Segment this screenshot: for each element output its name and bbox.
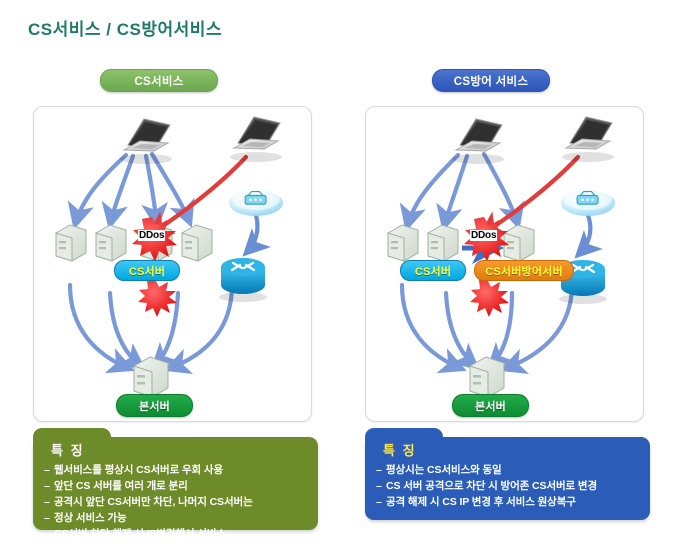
block-burst-icon [138, 279, 177, 317]
attack-flow-arrows [75, 154, 190, 225]
cloud-to-router-arrow [246, 215, 258, 253]
feature-item-continuation: 정상 서비스 가능 [44, 511, 310, 526]
main-server-icon [470, 357, 504, 397]
block-burst-icon [470, 279, 509, 317]
attack-flow-arrows [407, 154, 518, 227]
feature-tab-label: 특 징 [383, 440, 417, 459]
ddos-label: DDos [138, 230, 165, 241]
feature-list-cs-service: 웹서비스를 평상시 CS서버로 우회 사용 앞단 CS 서버를 여러 개로 분리… [44, 463, 310, 543]
main-server-label: 본서버 [116, 394, 193, 417]
feature-item: 공격시 앞단 CS서버만 차단, 나머지 CS서버는 [44, 495, 310, 510]
attacker-laptop-icon [120, 119, 178, 164]
cloud-to-router-arrow [578, 215, 590, 255]
column-cs-defense-service: CS방어 서비스 [345, 0, 665, 555]
feature-item: CS 서버 공격으로 차단 시 방어존 CS서버로 변경 [376, 479, 642, 494]
cs-server-label: CS서버 [400, 260, 466, 281]
feature-item: 평상시는 CS서비스와 동일 [376, 463, 642, 478]
main-server-label: 본서버 [452, 394, 529, 417]
feature-tab-label: 특 징 [51, 440, 85, 459]
feature-item: CS서버 차단 해제 시 IP변경해서 서비스 [44, 527, 310, 542]
feature-box-cs-service: 특 징 웹서비스를 평상시 CS서버로 우회 사용 앞단 CS 서버를 여러 개… [33, 437, 318, 530]
feature-box-cs-defense-service: 특 징 평상시는 CS서비스와 동일 CS 서버 공격으로 차단 시 방어존 C… [365, 437, 650, 520]
feature-item: 웹서비스를 평상시 CS서버로 우회 사용 [44, 463, 310, 478]
defense-server-group [504, 225, 534, 261]
feature-item: 앞단 CS 서버를 여러 개로 분리 [44, 479, 310, 494]
internet-cloud-icon [561, 188, 615, 216]
feature-item: 공격 해제 시 CS IP 변경 후 서비스 원상복구 [376, 495, 642, 510]
front-server-group [388, 225, 458, 261]
cs-server-label: CS서버 [114, 260, 180, 281]
client-laptop-icon [230, 117, 282, 162]
defense-server-label: CS서버방어서버 [474, 260, 574, 281]
internet-cloud-icon [229, 188, 283, 216]
panel-header-label: CS방어 서비스 [454, 73, 528, 89]
panel-header-label: CS서비스 [134, 73, 183, 89]
diagram-panel-cs-service: DDos CS서버 본서버 [33, 106, 312, 422]
client-laptop-icon [562, 117, 614, 162]
ddos-label: DDos [470, 230, 497, 241]
feature-list-cs-defense-service: 평상시는 CS서비스와 동일 CS 서버 공격으로 차단 시 방어존 CS서버로… [376, 463, 642, 511]
main-server-icon [134, 357, 168, 397]
panel-header-pill-cs-service: CS서비스 [100, 69, 218, 92]
panel-header-pill-cs-defense-service: CS방어 서비스 [432, 69, 550, 92]
diagram-panel-cs-defense-service: DDos CS서버 CS서버방어서버 본서버 [365, 106, 644, 422]
attacker-laptop-icon [452, 119, 504, 164]
router-icon [219, 258, 267, 302]
column-cs-service: CS서비스 [13, 0, 333, 555]
